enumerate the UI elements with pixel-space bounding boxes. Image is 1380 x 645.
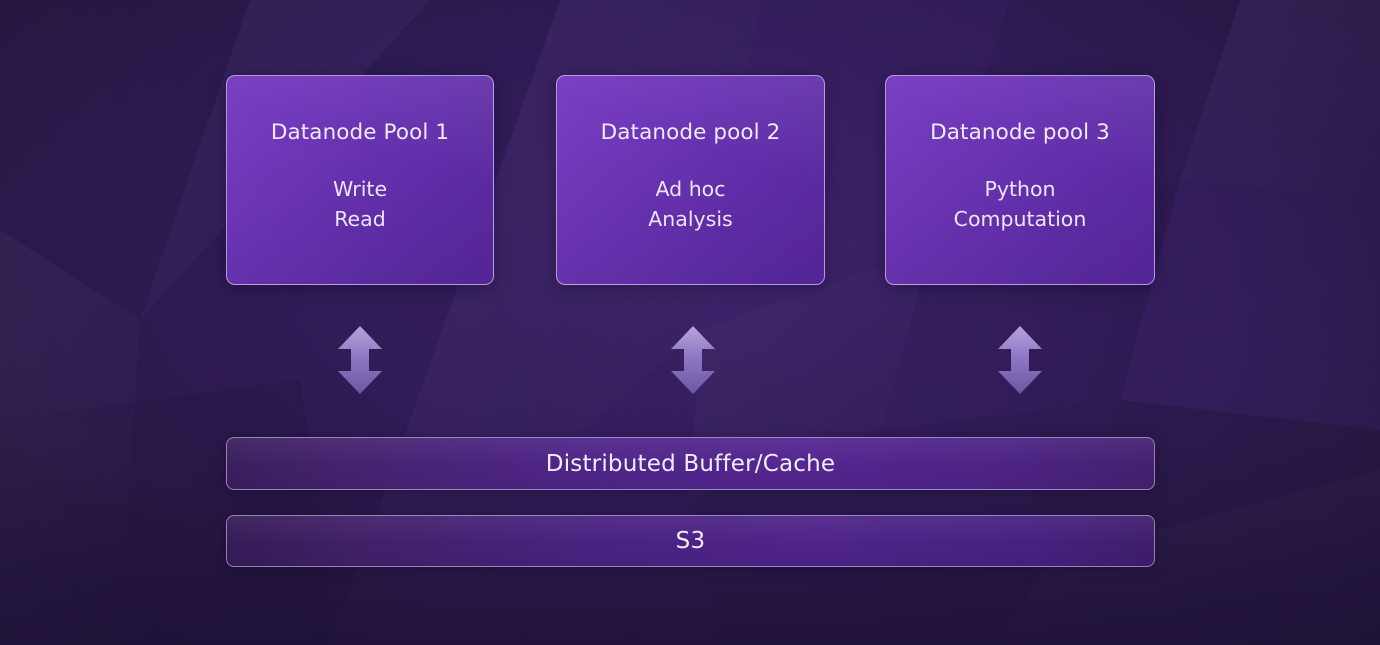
pool-role-line: Analysis [648, 204, 732, 234]
pool-role-line: Python [954, 174, 1087, 204]
pool-card-title: Datanode pool 2 [601, 120, 781, 146]
pool-card-title: Datanode Pool 1 [271, 120, 449, 146]
datanode-pool-card-2[interactable]: Datanode pool 2 Ad hoc Analysis [556, 75, 825, 285]
pool-role-line: Write [333, 174, 387, 204]
double-arrow-vertical-icon [997, 325, 1043, 395]
double-arrow-vertical-icon [670, 325, 716, 395]
pool-card-roles: Ad hoc Analysis [648, 174, 732, 234]
double-arrow-vertical-icon [337, 325, 383, 395]
pool-card-roles: Write Read [333, 174, 387, 234]
pool-role-line: Computation [954, 204, 1087, 234]
layer-bar-distributed-buffer-cache[interactable]: Distributed Buffer/Cache [226, 437, 1155, 490]
pool-card-roles: Python Computation [954, 174, 1087, 234]
pool-card-title: Datanode pool 3 [930, 120, 1110, 146]
datanode-pool-card-1[interactable]: Datanode Pool 1 Write Read [226, 75, 494, 285]
datanode-pool-card-3[interactable]: Datanode pool 3 Python Computation [885, 75, 1155, 285]
diagram-canvas: Datanode Pool 1 Write Read Datanode pool… [0, 0, 1380, 645]
layer-bar-s3[interactable]: S3 [226, 515, 1155, 567]
layer-bar-label: S3 [676, 528, 706, 554]
layer-bar-label: Distributed Buffer/Cache [546, 451, 835, 477]
pool-role-line: Ad hoc [648, 174, 732, 204]
pool-role-line: Read [333, 204, 387, 234]
